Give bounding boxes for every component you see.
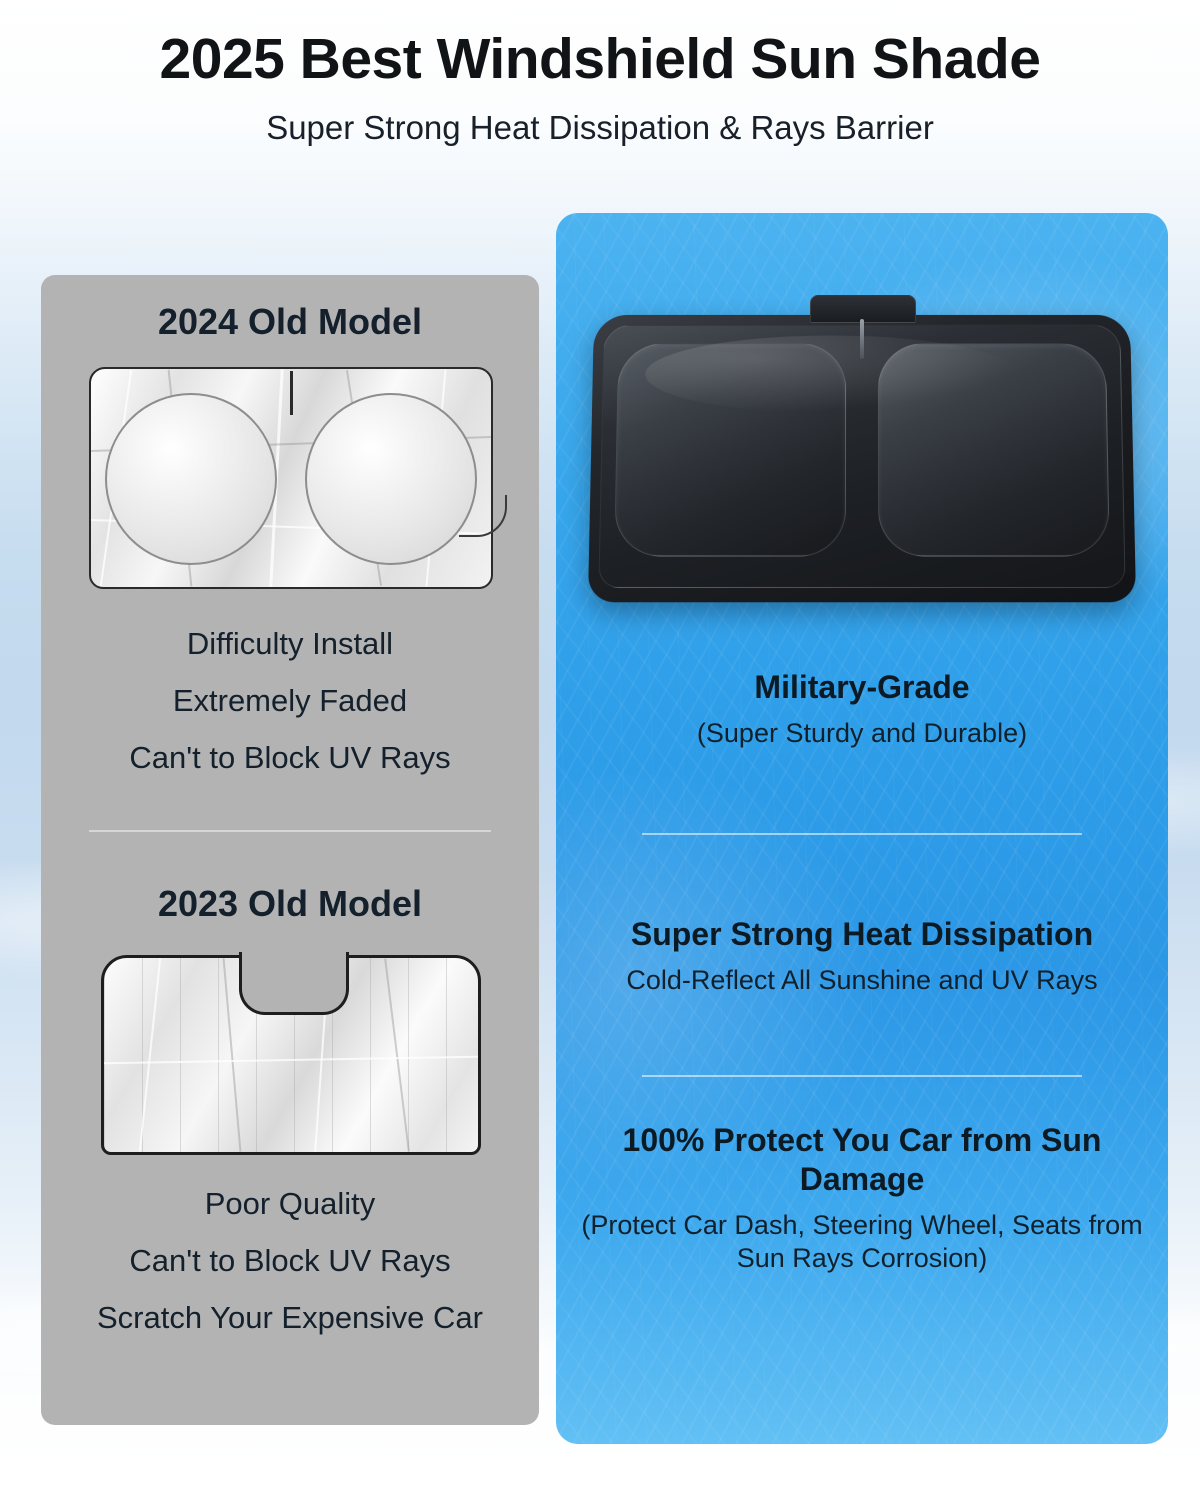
old-models-panel: 2024 Old Model Difficulty Install Extrem… — [41, 275, 539, 1425]
feature-3-text: (Protect Car Dash, Steering Wheel, Seats… — [580, 1199, 1144, 1275]
old-model-2023-bullets: Poor Quality Can't to Block UV Rays Scra… — [41, 1175, 539, 1346]
old-2023-bullet-3: Scratch Your Expensive Car — [41, 1289, 539, 1346]
header: 2025 Best Windshield Sun Shade Super Str… — [0, 0, 1200, 147]
feature-2-heading: Super Strong Heat Dissipation — [580, 915, 1144, 954]
old-2024-bullet-2: Extremely Faded — [41, 672, 539, 729]
product-zipper-pull-icon — [860, 319, 864, 359]
new-model-panel: Military-Grade (Super Sturdy and Durable… — [556, 213, 1168, 1444]
old-model-2024-bullets: Difficulty Install Extremely Faded Can't… — [41, 615, 539, 786]
feature-1-text: (Super Sturdy and Durable) — [580, 707, 1144, 750]
old-2023-bullet-1: Poor Quality — [41, 1175, 539, 1232]
old-model-2023-mirror-notch — [239, 952, 349, 1015]
feature-sun-damage-protection: 100% Protect You Car from Sun Damage (Pr… — [580, 1121, 1144, 1275]
feature-military-grade: Military-Grade (Super Sturdy and Durable… — [580, 668, 1144, 750]
new-panel-divider-1 — [642, 833, 1082, 835]
new-panel-divider-2 — [642, 1075, 1082, 1077]
feature-heat-dissipation: Super Strong Heat Dissipation Cold-Refle… — [580, 915, 1144, 997]
old-model-2024-image — [89, 367, 493, 589]
old-2024-bullet-1: Difficulty Install — [41, 615, 539, 672]
old-model-2023-title: 2023 Old Model — [41, 883, 539, 925]
product-comparison-infographic: 2025 Best Windshield Sun Shade Super Str… — [0, 0, 1200, 1500]
old-model-2024-title: 2024 Old Model — [41, 275, 539, 343]
feature-3-heading: 100% Protect You Car from Sun Damage — [580, 1121, 1144, 1199]
old-panel-divider — [89, 830, 491, 832]
old-model-2023-image — [101, 955, 481, 1155]
old-2023-bullet-2: Can't to Block UV Rays — [41, 1232, 539, 1289]
page-title: 2025 Best Windshield Sun Shade — [0, 0, 1200, 92]
product-image-2025-sunshade — [591, 295, 1133, 615]
page-subtitle: Super Strong Heat Dissipation & Rays Bar… — [0, 92, 1200, 148]
feature-1-heading: Military-Grade — [580, 668, 1144, 707]
feature-2-text: Cold-Reflect All Sunshine and UV Rays — [580, 954, 1144, 997]
old-2024-bullet-3: Can't to Block UV Rays — [41, 729, 539, 786]
old-model-2024-strap — [459, 495, 507, 537]
